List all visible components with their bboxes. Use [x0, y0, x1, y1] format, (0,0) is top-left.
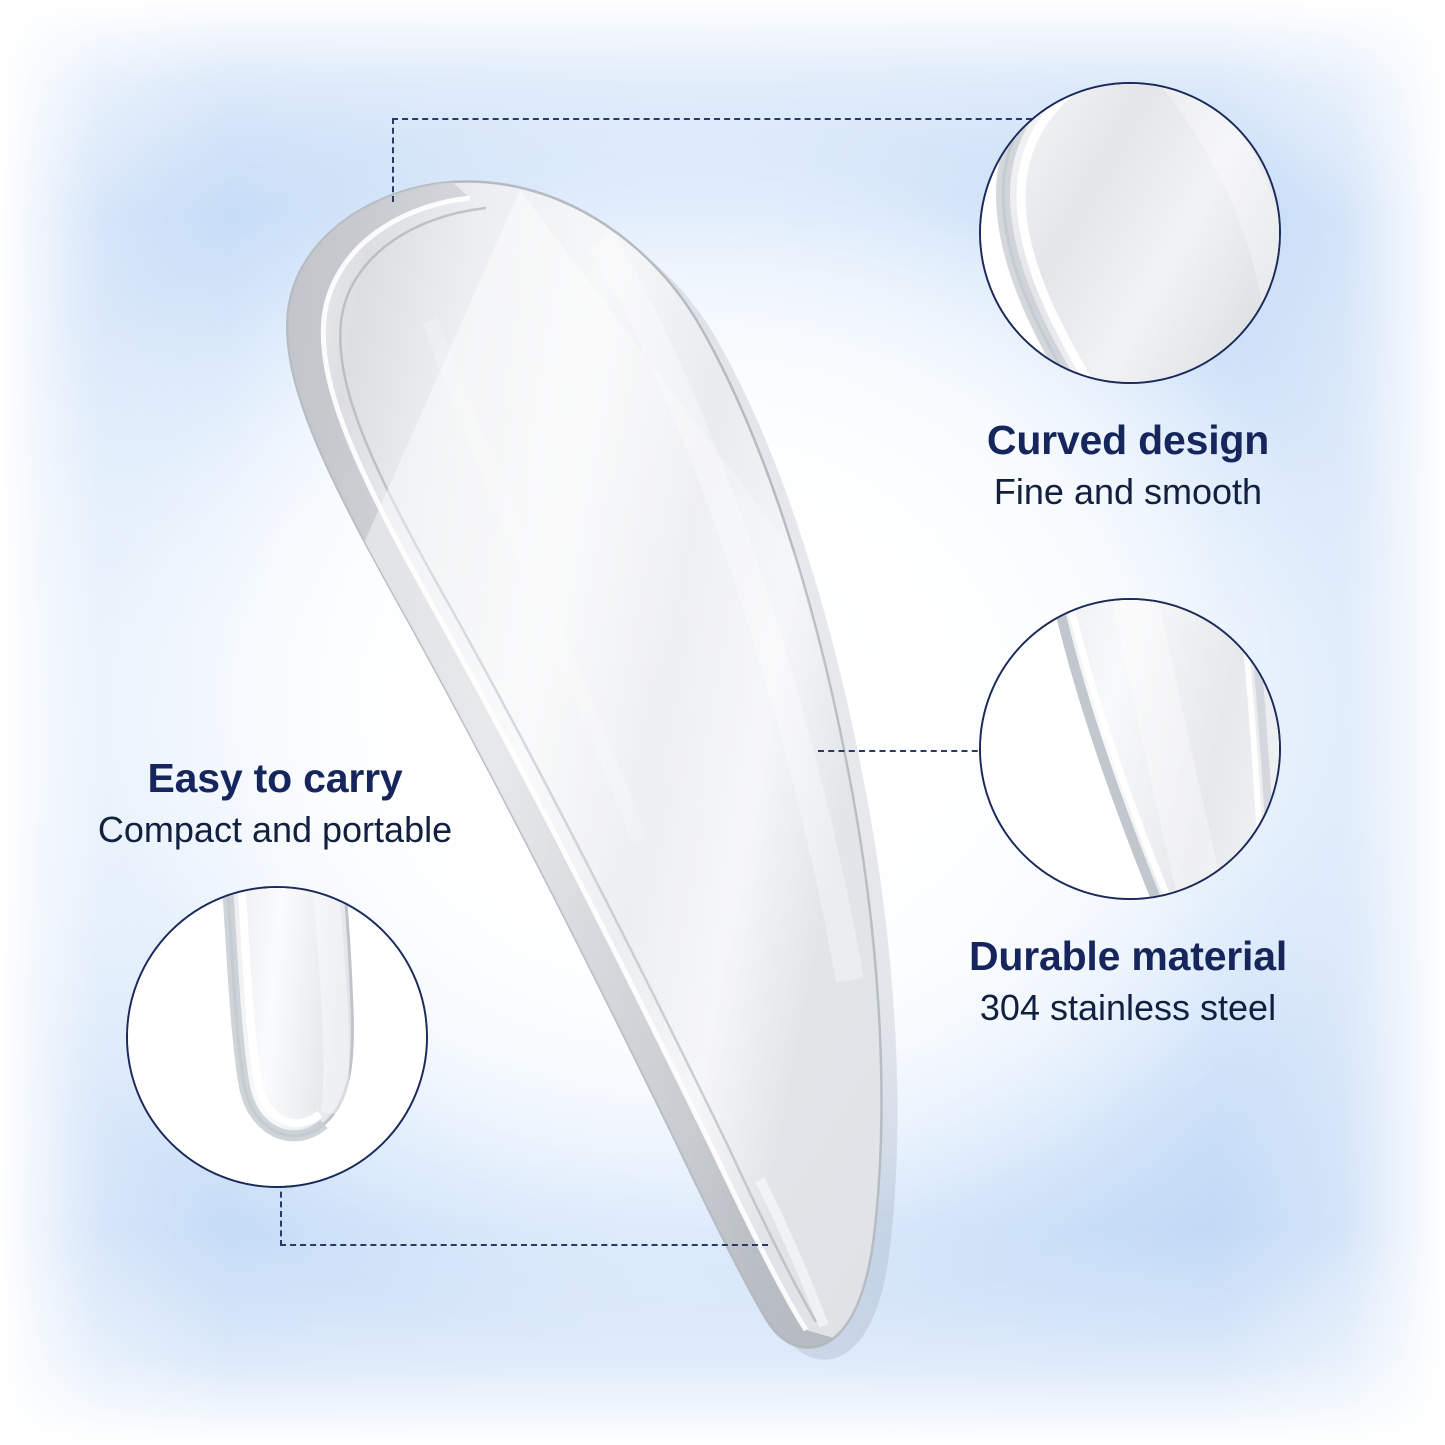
callout-durable-detail [981, 600, 1279, 898]
leader-line-curved-vertical [392, 118, 394, 202]
callout-text-curved: Curved design Fine and smooth [941, 418, 1315, 513]
callout-subtitle-curved: Fine and smooth [941, 470, 1315, 513]
callout-text-carry: Easy to carry Compact and portable [88, 756, 462, 851]
callout-subtitle-carry: Compact and portable [88, 808, 462, 851]
callout-title-durable: Durable material [941, 934, 1315, 980]
leader-line-durable-horizontal [818, 750, 988, 752]
callout-title-curved: Curved design [941, 418, 1315, 464]
callout-zoom-circle-durable [979, 598, 1281, 900]
callout-zoom-circle-curved [979, 82, 1281, 384]
leader-line-carry-vertical [280, 1182, 282, 1246]
callout-title-carry: Easy to carry [88, 756, 462, 802]
callout-curved-detail [981, 84, 1279, 382]
callout-subtitle-durable: 304 stainless steel [941, 986, 1315, 1029]
callout-zoom-circle-carry [126, 886, 428, 1188]
callout-text-durable: Durable material 304 stainless steel [941, 934, 1315, 1029]
callout-carry-detail [128, 888, 426, 1186]
leader-line-curved-horizontal [392, 118, 1032, 120]
leader-line-carry-horizontal [280, 1244, 768, 1246]
product-infographic: Curved design Fine and smooth [0, 0, 1445, 1445]
